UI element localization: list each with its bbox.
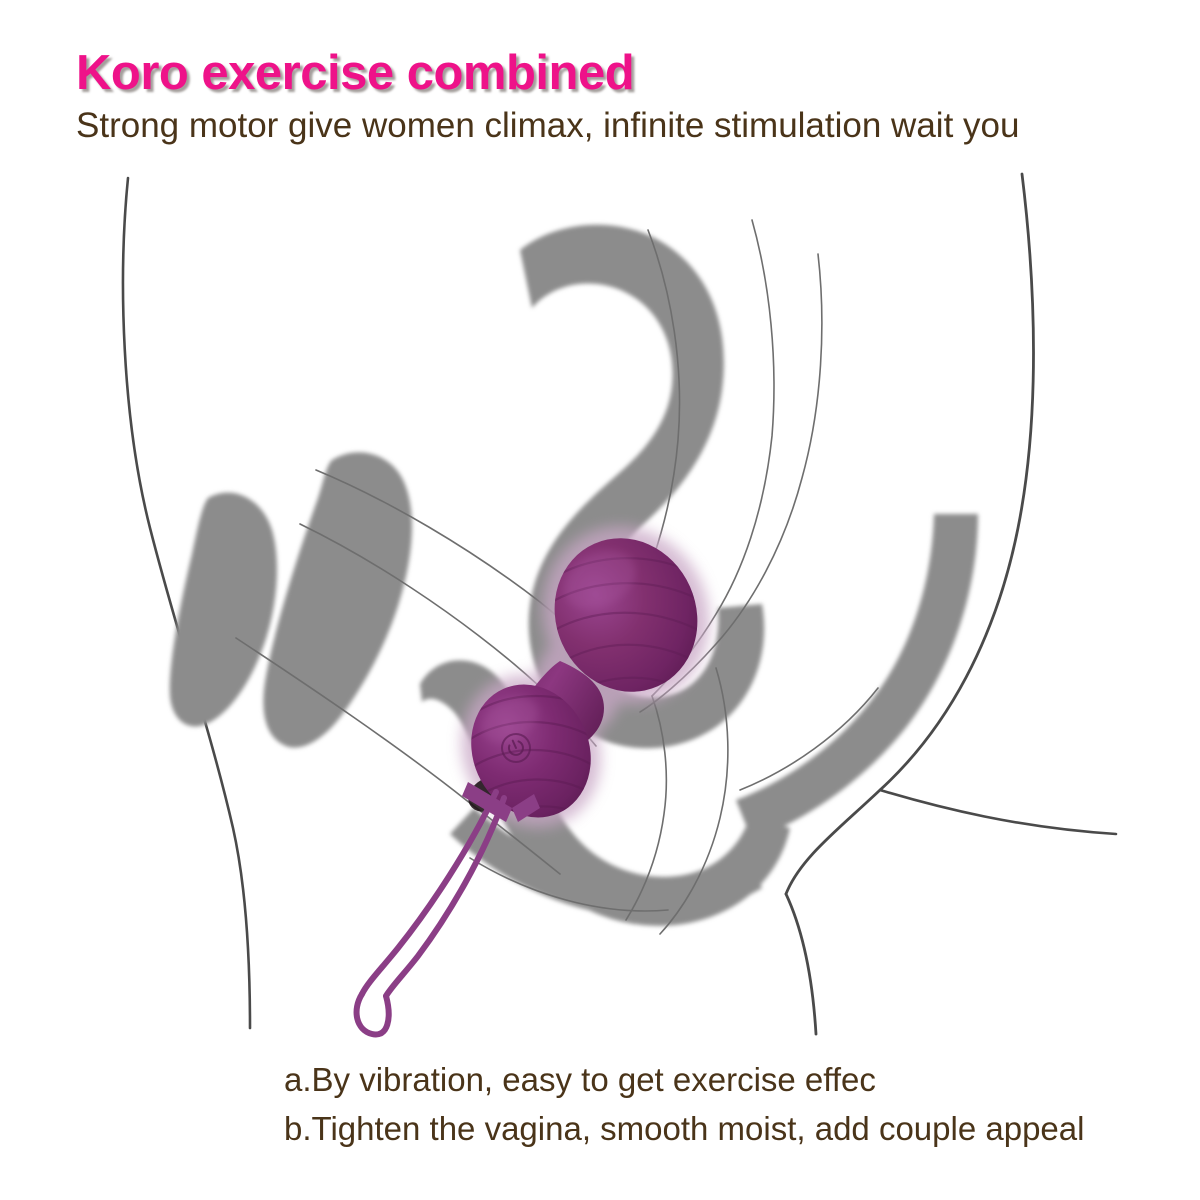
footer-line-b: b.Tighten the vagina, smooth moist, add … <box>284 1105 1184 1154</box>
product-infographic-page: Koro exercise combined Strong motor give… <box>0 0 1200 1200</box>
pubic-bone-organ <box>170 493 277 727</box>
header-block: Koro exercise combined Strong motor give… <box>76 48 1156 146</box>
buttock-contour-line <box>786 894 816 1034</box>
page-subtitle: Strong motor give women climax, infinite… <box>76 107 1156 146</box>
bladder-organ <box>263 452 412 747</box>
anatomy-illustration <box>0 168 1200 1038</box>
footer-block: a.By vibration, easy to get exercise eff… <box>284 1056 1184 1154</box>
page-title: Koro exercise combined <box>76 48 1156 99</box>
retrieval-cord-loop-end <box>357 994 389 1035</box>
footer-line-a: a.By vibration, easy to get exercise eff… <box>284 1056 1184 1105</box>
thigh-contour-line <box>880 790 1116 834</box>
sacrum-spine-organ <box>736 514 978 840</box>
